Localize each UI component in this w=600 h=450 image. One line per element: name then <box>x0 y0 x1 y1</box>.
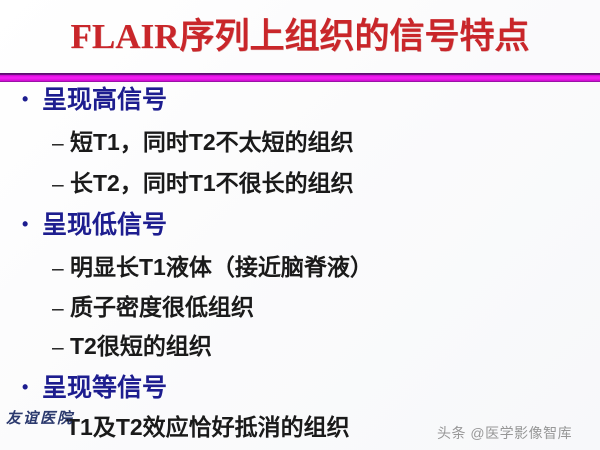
dash-marker-icon: – <box>52 258 70 279</box>
sub-item-low-proton-density: –质子密度很低组织 <box>52 296 254 319</box>
bullet-dot-icon: • <box>22 90 42 108</box>
sub-item-label: 质子密度很低组织 <box>70 294 254 320</box>
sub-item-label: 长T2，同时T1不很长的组织 <box>70 170 354 196</box>
sub-item-label: T1及T2效应恰好抵消的组织 <box>66 414 350 440</box>
title-divider-bar <box>0 73 600 82</box>
bullet-item-low-signal: •呈现低信号 <box>22 213 167 238</box>
presentation-slide: FLAIR序列上组织的信号特点 •呈现高信号 –短T1，同时T2不太短的组织 –… <box>0 0 600 450</box>
sub-item-t1-t2-cancel: –T1及T2效应恰好抵消的组织 <box>66 416 350 439</box>
dash-marker-icon: – <box>52 298 70 319</box>
slide-title-area: FLAIR序列上组织的信号特点 <box>0 0 600 73</box>
sub-item-long-t1-fluid: –明显长T1液体（接近脑脊液） <box>52 256 373 279</box>
sub-item-long-t2: –长T2，同时T1不很长的组织 <box>52 172 354 195</box>
slide-title: FLAIR序列上组织的信号特点 <box>71 19 530 54</box>
dash-marker-icon: – <box>52 174 70 195</box>
bullet-item-high-signal: •呈现高信号 <box>22 88 167 113</box>
sub-item-label: 明显长T1液体（接近脑脊液） <box>70 254 373 280</box>
sub-item-short-t2: –T2很短的组织 <box>52 335 212 358</box>
watermark-hospital: 友谊医院 <box>6 407 74 428</box>
bullet-item-label: 呈现等信号 <box>42 374 167 402</box>
sub-item-label: T2很短的组织 <box>70 333 212 359</box>
bullet-item-label: 呈现低信号 <box>42 211 167 239</box>
dash-marker-icon: – <box>52 133 70 154</box>
watermark-source: 头条 @医学影像智库 <box>437 423 572 443</box>
bullet-item-label: 呈现高信号 <box>42 86 167 114</box>
slide-body: •呈现高信号 –短T1，同时T2不太短的组织 –长T2，同时T1不很长的组织 •… <box>0 82 600 450</box>
sub-item-label: 短T1，同时T2不太短的组织 <box>70 129 354 155</box>
dash-marker-icon: – <box>52 337 70 358</box>
sub-item-short-t1: –短T1，同时T2不太短的组织 <box>52 131 354 154</box>
bullet-dot-icon: • <box>22 378 42 396</box>
bullet-item-iso-signal: •呈现等信号 <box>22 376 167 401</box>
bullet-dot-icon: • <box>22 215 42 233</box>
